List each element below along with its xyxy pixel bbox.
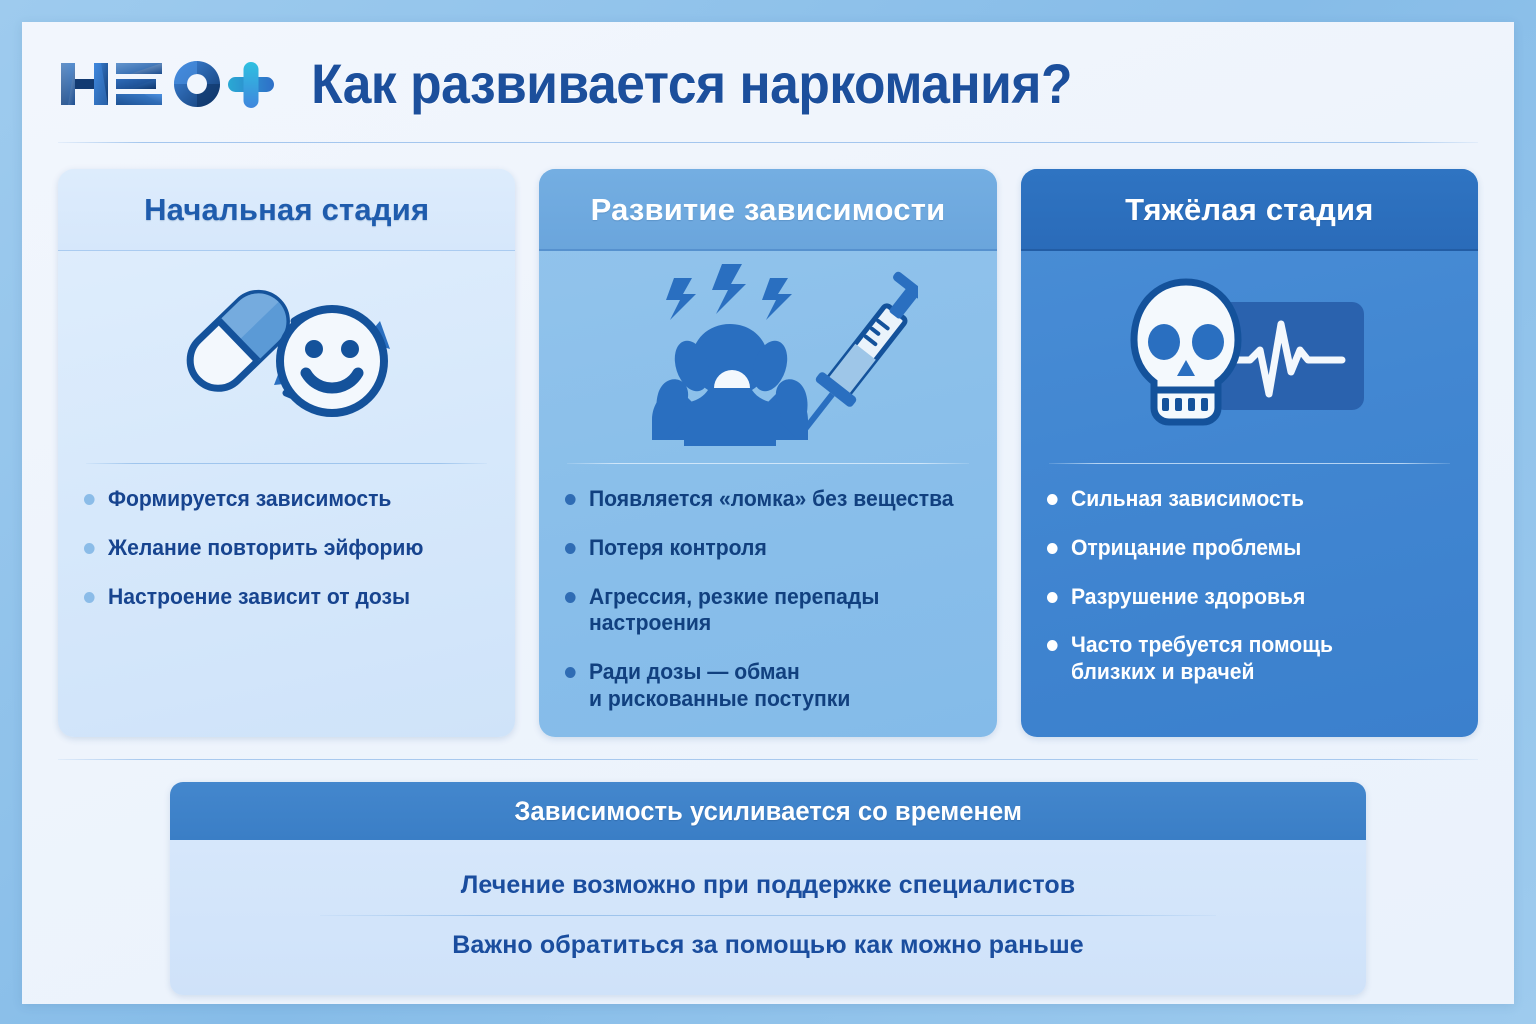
stage-icon-area <box>84 251 489 463</box>
pill-smiley-cycle-icon <box>142 265 432 450</box>
bullet-text: Настроение зависит от дозы <box>108 584 410 611</box>
list-item: Агрессия, резкие перепады настроения <box>565 584 954 638</box>
header-divider <box>58 142 1478 143</box>
stage-icon-area <box>565 251 970 463</box>
stage-card-title: Начальная стадия <box>144 192 429 228</box>
bullet-text: Агрессия, резкие перепады настроения <box>589 584 954 638</box>
summary-banner-header: Зависимость усиливается со временем <box>170 782 1366 840</box>
distressed-person-syringe-icon <box>618 262 918 452</box>
page-title: Как развивается наркомания? <box>278 56 1382 112</box>
bullet-dot-icon <box>565 494 576 505</box>
poster-panel: Как развивается наркомания? Начальная ст… <box>22 22 1514 1004</box>
stages-row: Начальная стадия <box>58 169 1478 737</box>
stage-card-header: Развитие зависимости <box>539 169 996 251</box>
list-item: Желание повторить эйфорию <box>84 535 473 562</box>
stage-card-severe[interactable]: Тяжёлая стадия <box>1021 169 1478 737</box>
bullet-dot-icon <box>1047 640 1058 651</box>
summary-banner-headline: Зависимость усиливается со временем <box>514 796 1022 827</box>
stage-card-body: Формируется зависимость Желание повторит… <box>58 251 515 737</box>
list-item: Разрушение здоровья <box>1047 584 1436 611</box>
bullet-dot-icon <box>1047 592 1058 603</box>
stage-card-body: Сильная зависимость Отрицание проблемы Р… <box>1021 251 1478 737</box>
stage-card-divider <box>567 463 968 464</box>
bullet-dot-icon <box>565 592 576 603</box>
summary-inner-divider <box>320 915 1216 916</box>
stage-bullet-list: Сильная зависимость Отрицание проблемы Р… <box>1047 486 1452 708</box>
stage-card-initial[interactable]: Начальная стадия <box>58 169 515 737</box>
stage-card-header: Тяжёлая стадия <box>1021 169 1478 251</box>
bullet-dot-icon <box>84 494 95 505</box>
stage-bullet-list: Формируется зависимость Желание повторит… <box>84 486 489 632</box>
list-item: Появляется «ломка» без вещества <box>565 486 954 513</box>
bullet-dot-icon <box>84 592 95 603</box>
bullet-text: Разрушение здоровья <box>1071 584 1305 611</box>
stage-card-header: Начальная стадия <box>58 169 515 251</box>
list-item: Настроение зависит от дозы <box>84 584 473 611</box>
bullet-dot-icon <box>1047 494 1058 505</box>
stage-card-divider <box>86 463 487 464</box>
bullet-text: Сильная зависимость <box>1071 486 1304 513</box>
neo-plus-logo-icon <box>58 53 278 115</box>
poster-header: Как развивается наркомания? <box>58 22 1478 132</box>
list-item: Часто требуется помощь близких и врачей <box>1047 632 1436 686</box>
bullet-dot-icon <box>565 667 576 678</box>
stage-card-body: Появляется «ломка» без вещества Потеря к… <box>539 251 996 737</box>
stage-card-title: Развитие зависимости <box>591 192 946 228</box>
list-item: Сильная зависимость <box>1047 486 1436 513</box>
bottom-divider <box>58 759 1478 760</box>
list-item: Отрицание проблемы <box>1047 535 1436 562</box>
bullet-text: Желание повторить эйфорию <box>108 535 423 562</box>
bullet-dot-icon <box>84 543 95 554</box>
stage-bullet-list: Появляется «ломка» без вещества Потеря к… <box>565 486 970 735</box>
list-item: Формируется зависимость <box>84 486 473 513</box>
poster-root: Как развивается наркомания? Начальная ст… <box>0 0 1536 1024</box>
summary-line-2: Важно обратиться за помощью как можно ра… <box>170 922 1366 969</box>
summary-banner: Зависимость усиливается со временем Лече… <box>170 782 1366 995</box>
stage-icon-area <box>1047 251 1452 463</box>
bullet-text: Формируется зависимость <box>108 486 391 513</box>
bullet-dot-icon <box>1047 543 1058 554</box>
bullet-text: Часто требуется помощь близких и врачей <box>1071 632 1333 686</box>
stage-card-divider <box>1049 463 1450 464</box>
bullet-dot-icon <box>565 543 576 554</box>
skull-ecg-icon <box>1124 270 1374 445</box>
bullet-text: Появляется «ломка» без вещества <box>589 486 954 513</box>
summary-line-1: Лечение возможно при поддержке специалис… <box>170 862 1366 909</box>
bullet-text: Ради дозы — обман и рискованные поступки <box>589 659 850 713</box>
stage-card-title: Тяжёлая стадия <box>1125 192 1373 228</box>
bullet-text: Отрицание проблемы <box>1071 535 1301 562</box>
stage-card-dependence[interactable]: Развитие зависимости <box>539 169 996 737</box>
list-item: Потеря контроля <box>565 535 954 562</box>
summary-banner-body: Лечение возможно при поддержке специалис… <box>170 840 1366 995</box>
bullet-text: Потеря контроля <box>589 535 767 562</box>
list-item: Ради дозы — обман и рискованные поступки <box>565 659 954 713</box>
